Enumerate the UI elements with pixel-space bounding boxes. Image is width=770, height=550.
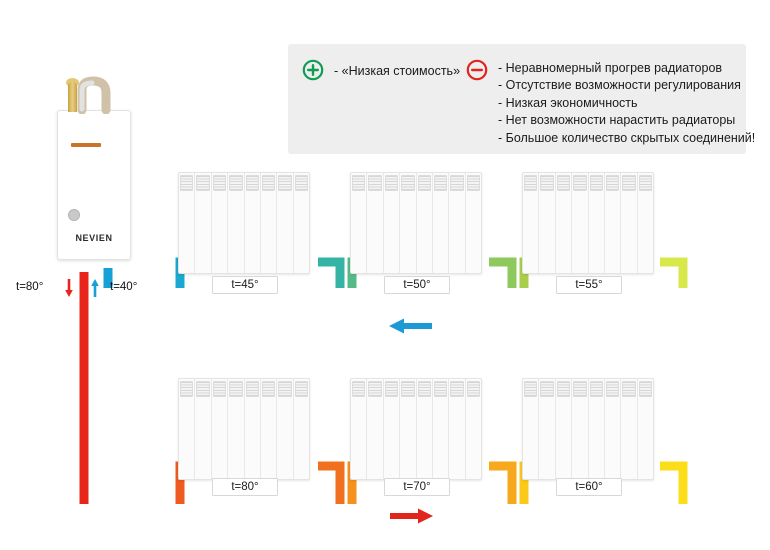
radiator-bottom-1[interactable] [178,378,308,478]
legend-cons-list: - Неравномерный прогрев радиаторов - Отс… [498,60,755,147]
radiator-fins [179,173,309,273]
radiator-top-2[interactable] [350,172,480,272]
boiler: NEVIEN [57,110,131,260]
radiator-body [178,172,310,274]
radiator-top-1-temp-label: t=45° [212,276,278,294]
boiler-knob[interactable] [68,209,80,221]
radiator-fins [351,379,481,479]
radiator-bottom-3[interactable] [522,378,652,478]
radiator-top-3[interactable] [522,172,652,272]
radiator-body [350,172,482,274]
radiator-body [522,378,654,480]
radiator-top-2-temp-label: t=50° [384,276,450,294]
radiator-body [178,378,310,480]
down-arrow-icon [64,278,74,298]
legend-cons-item: - Неравномерный прогрев радиаторов [498,60,755,77]
flue-curve-icon [76,76,120,114]
legend-cons-item: - Нет возможности нарастить радиаторы [498,112,755,129]
radiator-body [350,378,482,480]
up-arrow-icon [90,278,100,298]
minus-circle-icon [466,59,488,81]
radiator-top-1[interactable] [178,172,308,272]
radiator-bottom-2[interactable] [350,378,480,478]
heating-scheme-diagram: NEVIEN t=80° t=40° t=45° [0,0,770,550]
boiler-return-temp-label: t=40° [110,280,137,294]
legend-panel: - «Низкая стоимость» - Неравномерный про… [288,44,746,154]
legend-cons-item: - Низкая экономичность [498,95,755,112]
legend-pros-row: - «Низкая стоимость» [302,60,460,82]
legend-pros-text: - «Низкая стоимость» [334,60,460,82]
radiator-bottom-3-temp-label: t=60° [556,478,622,496]
plus-circle-icon [302,59,324,81]
radiator-fins [523,379,653,479]
boiler-supply-temp-label: t=80° [16,280,43,294]
radiator-body [522,172,654,274]
radiator-top-3-temp-label: t=55° [556,276,622,294]
return-flow-arrow [388,316,434,336]
radiator-fins [351,173,481,273]
legend-cons-row: - Неравномерный прогрев радиаторов - Отс… [466,60,755,147]
radiator-bottom-1-temp-label: t=80° [212,478,278,496]
supply-flow-arrow [388,506,434,526]
legend-cons-item: - Большое количество скрытых соединений! [498,130,755,147]
radiator-fins [523,173,653,273]
boiler-stripe [71,143,101,147]
legend-cons-item: - Отсутствие возможности регулирования [498,77,755,94]
radiator-fins [179,379,309,479]
radiator-bottom-2-temp-label: t=70° [384,478,450,496]
boiler-brand-label: NEVIEN [58,233,130,243]
